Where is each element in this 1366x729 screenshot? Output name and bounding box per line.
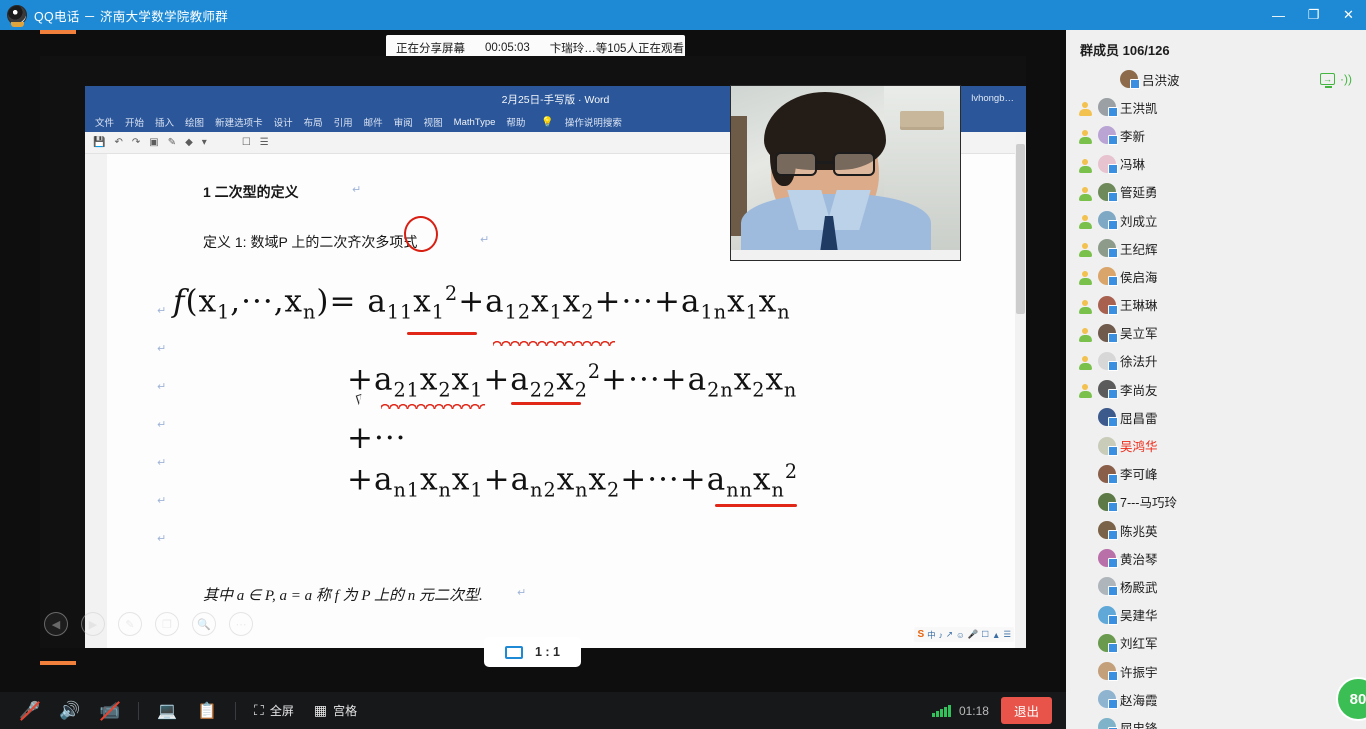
- fullscreen-button[interactable]: ⛶ 全屏: [244, 692, 304, 729]
- member-row[interactable]: 7---马巧玲: [1066, 488, 1366, 516]
- aspect-ratio-label: 1 : 1: [535, 645, 560, 659]
- ime-tool-icon[interactable]: ↗: [946, 629, 953, 640]
- avatar[interactable]: [1098, 126, 1116, 144]
- pilcrow-icon: ↵: [157, 418, 166, 431]
- fullscreen-icon: ⛶: [254, 702, 264, 719]
- ime-menu-icon[interactable]: ☰: [1003, 629, 1011, 640]
- red-underline-annotation-3: [715, 504, 797, 507]
- window-title: QQ电话 － 济南大学数学院教师群: [34, 6, 228, 25]
- avatar[interactable]: [1120, 70, 1138, 88]
- avatar[interactable]: [1098, 408, 1116, 426]
- redo-icon[interactable]: ↷: [132, 137, 140, 148]
- ime-chinese-icon[interactable]: 中: [927, 629, 936, 641]
- red-squiggle-annotation-2: [381, 403, 485, 409]
- stage-accent-top: [40, 30, 76, 34]
- member-row[interactable]: 黄治琴: [1066, 544, 1366, 572]
- presenter-video-tile[interactable]: [730, 85, 961, 261]
- qq-call-window: QQ电话 － 济南大学数学院教师群 — ❐ ✕ 正在分享屏幕 00:05:03 …: [0, 0, 1366, 729]
- share-status-text: 正在分享屏幕: [386, 40, 475, 56]
- doc-heading-line: 1 二次型的定义: [203, 182, 299, 202]
- video-shelf: [900, 111, 944, 127]
- video-bottom-strip: [731, 250, 960, 260]
- member-role-icon: [1076, 211, 1094, 229]
- member-name: 许振宇: [1120, 662, 1158, 681]
- red-squiggle-annotation: [493, 340, 615, 346]
- member-role-icon: [1076, 380, 1094, 398]
- member-row[interactable]: 杨殿武: [1066, 572, 1366, 600]
- handwritten-formula-line-4: +an1xnx1+an2xnx2+···+annxn2: [347, 460, 798, 502]
- member-status-icons: ·)): [1320, 73, 1352, 85]
- fullscreen-label: 全屏: [270, 702, 294, 719]
- speaker-icon[interactable]: 🔊: [50, 692, 90, 729]
- word-tab-home[interactable]: 开始: [125, 115, 144, 129]
- member-row[interactable]: 吕洪波·)): [1066, 65, 1366, 93]
- pilcrow-icon: ↵: [157, 342, 166, 355]
- member-name: 刘红军: [1120, 633, 1158, 652]
- shared-doc-controls[interactable]: ◀ ▶ ✎ ❐ 🔍 ⋯: [44, 612, 253, 636]
- word-tab-review[interactable]: 审阅: [394, 115, 413, 129]
- member-name: 陈兆英: [1120, 521, 1158, 540]
- toolbar-divider: [235, 702, 236, 720]
- touch-mode-icon[interactable]: ▣: [149, 137, 158, 148]
- avatar[interactable]: [1098, 267, 1116, 285]
- avatar[interactable]: [1098, 437, 1116, 455]
- member-row[interactable]: 管延勇: [1066, 178, 1366, 206]
- member-row[interactable]: 徐法升: [1066, 347, 1366, 375]
- ime-emoji-icon[interactable]: ☺: [956, 630, 965, 640]
- tell-me-search-input[interactable]: 操作说明搜索: [565, 115, 622, 129]
- ime-voice-icon[interactable]: 🎤: [968, 629, 979, 640]
- avatar[interactable]: [1098, 718, 1116, 729]
- format-painter-icon[interactable]: ✎: [168, 137, 176, 148]
- doc-definition-line: 定义 1: 数域P 上的二次齐次多项式: [203, 232, 417, 252]
- microphone-muted-icon[interactable]: 🎤: [10, 692, 50, 729]
- next-page-icon[interactable]: ▶: [81, 612, 105, 636]
- qq-call-logo-icon: [7, 5, 27, 25]
- word-tab-help[interactable]: 帮助: [506, 115, 525, 129]
- member-row[interactable]: 吴立军: [1066, 319, 1366, 347]
- ime-language-bar[interactable]: S 中 ♪ ↗ ☺ 🎤 ☐ ▲ ☰: [914, 627, 1014, 642]
- member-row[interactable]: 李新: [1066, 121, 1366, 149]
- grid-view-label: 宫格: [333, 702, 357, 719]
- more-tool-icon[interactable]: ⋯: [229, 612, 253, 636]
- member-name: 屈昌雷: [1120, 408, 1158, 427]
- red-underline-annotation: [407, 332, 477, 335]
- document-scrollbar[interactable]: [1015, 134, 1026, 648]
- ime-screenshot-icon[interactable]: ☐: [981, 629, 989, 640]
- doc-footer-line: 其中 a ∈ P, a = a 称 f 为 P 上的 n 元二次型.: [203, 584, 483, 605]
- word-tab-references[interactable]: 引用: [334, 115, 353, 129]
- presenter-glasses-icon: [775, 152, 875, 176]
- member-role-icon: [1076, 296, 1094, 314]
- word-tab-new-tab[interactable]: 新建选项卡: [215, 115, 263, 129]
- prev-page-icon[interactable]: ◀: [44, 612, 68, 636]
- avatar[interactable]: [1098, 352, 1116, 370]
- member-name: 赵海霞: [1120, 690, 1158, 709]
- member-row[interactable]: 吴鸿华: [1066, 431, 1366, 459]
- call-toolbar[interactable]: 🎤 🔊 📹 💻 📋 ⛶ 全屏 ▦ 宫格 01:18 退出: [0, 692, 1066, 729]
- member-role-icon: [1076, 183, 1094, 201]
- qat-extra-icon[interactable]: ☐: [242, 137, 251, 148]
- word-tab-insert[interactable]: 插入: [155, 115, 174, 129]
- share-viewers-text: 卞瑞玲…等105人正在观看: [540, 40, 694, 56]
- copy-tool-icon[interactable]: ❐: [155, 612, 179, 636]
- member-panel[interactable]: 群成员 106/126 吕洪波·))王洪凯李新冯琳管延勇刘成立王纪辉侯启海王琳琳…: [1066, 30, 1366, 729]
- screen-sharing-icon: [1320, 73, 1335, 85]
- pilcrow-icon: ↵: [157, 304, 166, 317]
- member-row[interactable]: 刘成立: [1066, 206, 1366, 234]
- avatar[interactable]: [1098, 155, 1116, 173]
- restore-button[interactable]: ❐: [1296, 0, 1331, 30]
- zoom-tool-icon[interactable]: 🔍: [192, 612, 216, 636]
- avatar[interactable]: [1098, 521, 1116, 539]
- scrollbar-thumb[interactable]: [1016, 144, 1025, 314]
- handwritten-formula-line-2: +a21x2x1+a22x22+···+a2nx2xn: [347, 360, 797, 402]
- avatar[interactable]: [1098, 98, 1116, 116]
- member-row[interactable]: 李可峰: [1066, 460, 1366, 488]
- speaking-audio-icon: ·)): [1340, 73, 1352, 85]
- avatar[interactable]: [1098, 380, 1116, 398]
- member-name: 王琳琳: [1120, 295, 1158, 314]
- avatar[interactable]: [1098, 549, 1116, 567]
- grid-view-button[interactable]: ▦ 宫格: [304, 692, 367, 729]
- member-name: 吴立军: [1120, 323, 1158, 342]
- pen-tool-icon[interactable]: ✎: [118, 612, 142, 636]
- member-panel-header: 群成员 106/126: [1066, 30, 1366, 65]
- qat-more-icon[interactable]: ▾: [202, 137, 207, 148]
- pilcrow-icon: ↵: [157, 456, 166, 469]
- member-name: 徐法升: [1120, 351, 1158, 370]
- member-name: 管延勇: [1120, 182, 1158, 201]
- member-row[interactable]: 李尚友: [1066, 375, 1366, 403]
- style-icon[interactable]: ◆: [185, 137, 193, 148]
- member-name: 吴鸿华: [1120, 436, 1158, 455]
- member-role-icon: [1076, 324, 1094, 342]
- avatar[interactable]: [1098, 211, 1116, 229]
- minimize-button[interactable]: —: [1261, 0, 1296, 30]
- camera-off-icon[interactable]: 📹: [90, 692, 130, 729]
- ime-sogou-icon[interactable]: S: [917, 629, 924, 640]
- avatar[interactable]: [1098, 493, 1116, 511]
- share-screen-icon[interactable]: 💻: [147, 692, 187, 729]
- word-document-title: 2月25日-手写版 · Word: [502, 92, 610, 107]
- avatar[interactable]: [1098, 662, 1116, 680]
- word-tab-layout[interactable]: 布局: [304, 115, 323, 129]
- pilcrow-icon: ↵: [352, 183, 361, 196]
- member-row[interactable]: 屈忠锋: [1066, 713, 1366, 729]
- member-name: 黄治琴: [1120, 549, 1158, 568]
- title-bar: QQ电话 － 济南大学数学院教师群 — ❐ ✕: [0, 0, 1366, 30]
- member-name: 王洪凯: [1120, 98, 1158, 117]
- member-role-icon: [1076, 126, 1094, 144]
- member-row[interactable]: 赵海霞: [1066, 685, 1366, 713]
- stage-accent-bottom: [40, 661, 76, 665]
- save-icon[interactable]: 💾: [93, 137, 105, 148]
- close-button[interactable]: ✕: [1331, 0, 1366, 30]
- qat-extra2-icon[interactable]: ☰: [260, 137, 269, 148]
- member-row[interactable]: 许振宇: [1066, 657, 1366, 685]
- member-role-icon: [1076, 352, 1094, 370]
- ime-punct-icon[interactable]: ♪: [939, 630, 943, 640]
- lightbulb-icon: 💡: [541, 117, 553, 128]
- member-name: 王纪辉: [1120, 239, 1158, 258]
- member-name: 李可峰: [1120, 464, 1158, 483]
- word-tab-mathtype[interactable]: MathType: [454, 117, 496, 128]
- avatar[interactable]: [1098, 239, 1116, 257]
- word-account-name[interactable]: lvhongb…: [971, 93, 1014, 104]
- member-name: 杨殿武: [1120, 577, 1158, 596]
- avatar[interactable]: [1098, 296, 1116, 314]
- avatar[interactable]: [1098, 690, 1116, 708]
- member-row[interactable]: 屈昌雷: [1066, 403, 1366, 431]
- member-name: 李尚友: [1120, 380, 1158, 399]
- member-name: 7---马巧玲: [1120, 492, 1177, 511]
- avatar[interactable]: [1098, 606, 1116, 624]
- toolbar-divider: [138, 702, 139, 720]
- member-row[interactable]: 侯启海: [1066, 262, 1366, 290]
- word-tab-draw[interactable]: 绘图: [185, 115, 204, 129]
- aspect-ratio-control[interactable]: 1 : 1: [484, 637, 581, 667]
- word-tab-design[interactable]: 设计: [274, 115, 293, 129]
- share-elapsed-time: 00:05:03: [475, 42, 540, 54]
- member-row[interactable]: 王洪凯: [1066, 93, 1366, 121]
- member-name: 李新: [1120, 126, 1145, 145]
- ime-skin-icon[interactable]: ▲: [992, 630, 1000, 640]
- member-row[interactable]: 冯琳: [1066, 150, 1366, 178]
- word-tab-view[interactable]: 视图: [424, 115, 443, 129]
- avatar[interactable]: [1098, 465, 1116, 483]
- member-name: 屈忠锋: [1120, 718, 1158, 729]
- exit-call-button[interactable]: 退出: [1001, 697, 1052, 724]
- pilcrow-icon: ↵: [480, 233, 489, 246]
- pilcrow-icon: ↵: [517, 586, 526, 599]
- network-signal-icon: [932, 705, 951, 717]
- member-row[interactable]: 王琳琳: [1066, 291, 1366, 319]
- member-name: 吕洪波: [1142, 70, 1180, 89]
- undo-icon[interactable]: ↶: [114, 137, 122, 148]
- word-tab-mailings[interactable]: 邮件: [364, 115, 383, 129]
- pilcrow-icon: ↵: [157, 494, 166, 507]
- member-name: 侯启海: [1120, 267, 1158, 286]
- member-row[interactable]: 陈兆英: [1066, 516, 1366, 544]
- handwritten-formula-line-3: +···: [347, 420, 407, 456]
- member-name: 冯琳: [1120, 154, 1145, 173]
- member-row[interactable]: 王纪辉: [1066, 234, 1366, 262]
- avatar[interactable]: [1098, 324, 1116, 342]
- member-role-icon: [1076, 267, 1094, 285]
- aspect-ratio-icon: [505, 646, 523, 659]
- pilcrow-icon: ↵: [157, 532, 166, 545]
- handwritten-formula-line-1: f(x1,···,xn)= a11x12+a12x1x2+···+a1nx1xn: [173, 282, 791, 324]
- avatar[interactable]: [1098, 577, 1116, 595]
- word-tab-file[interactable]: 文件: [95, 115, 114, 129]
- avatar[interactable]: [1098, 634, 1116, 652]
- member-row[interactable]: 吴建华: [1066, 601, 1366, 629]
- avatar[interactable]: [1098, 183, 1116, 201]
- member-list[interactable]: 吕洪波·))王洪凯李新冯琳管延勇刘成立王纪辉侯启海王琳琳吴立军徐法升李尚友屈昌雷…: [1066, 65, 1366, 729]
- red-underline-annotation-2: [511, 402, 581, 405]
- member-role-icon: [1076, 155, 1094, 173]
- pilcrow-icon: ↵: [157, 380, 166, 393]
- call-duration: 01:18: [959, 704, 989, 718]
- member-role-icon: [1076, 239, 1094, 257]
- member-name: 吴建华: [1120, 605, 1158, 624]
- member-name: 刘成立: [1120, 211, 1158, 230]
- member-role-icon: [1076, 98, 1094, 116]
- member-row[interactable]: 刘红军: [1066, 629, 1366, 657]
- whiteboard-icon[interactable]: 📋: [187, 692, 227, 729]
- grid-view-icon: ▦: [314, 702, 327, 719]
